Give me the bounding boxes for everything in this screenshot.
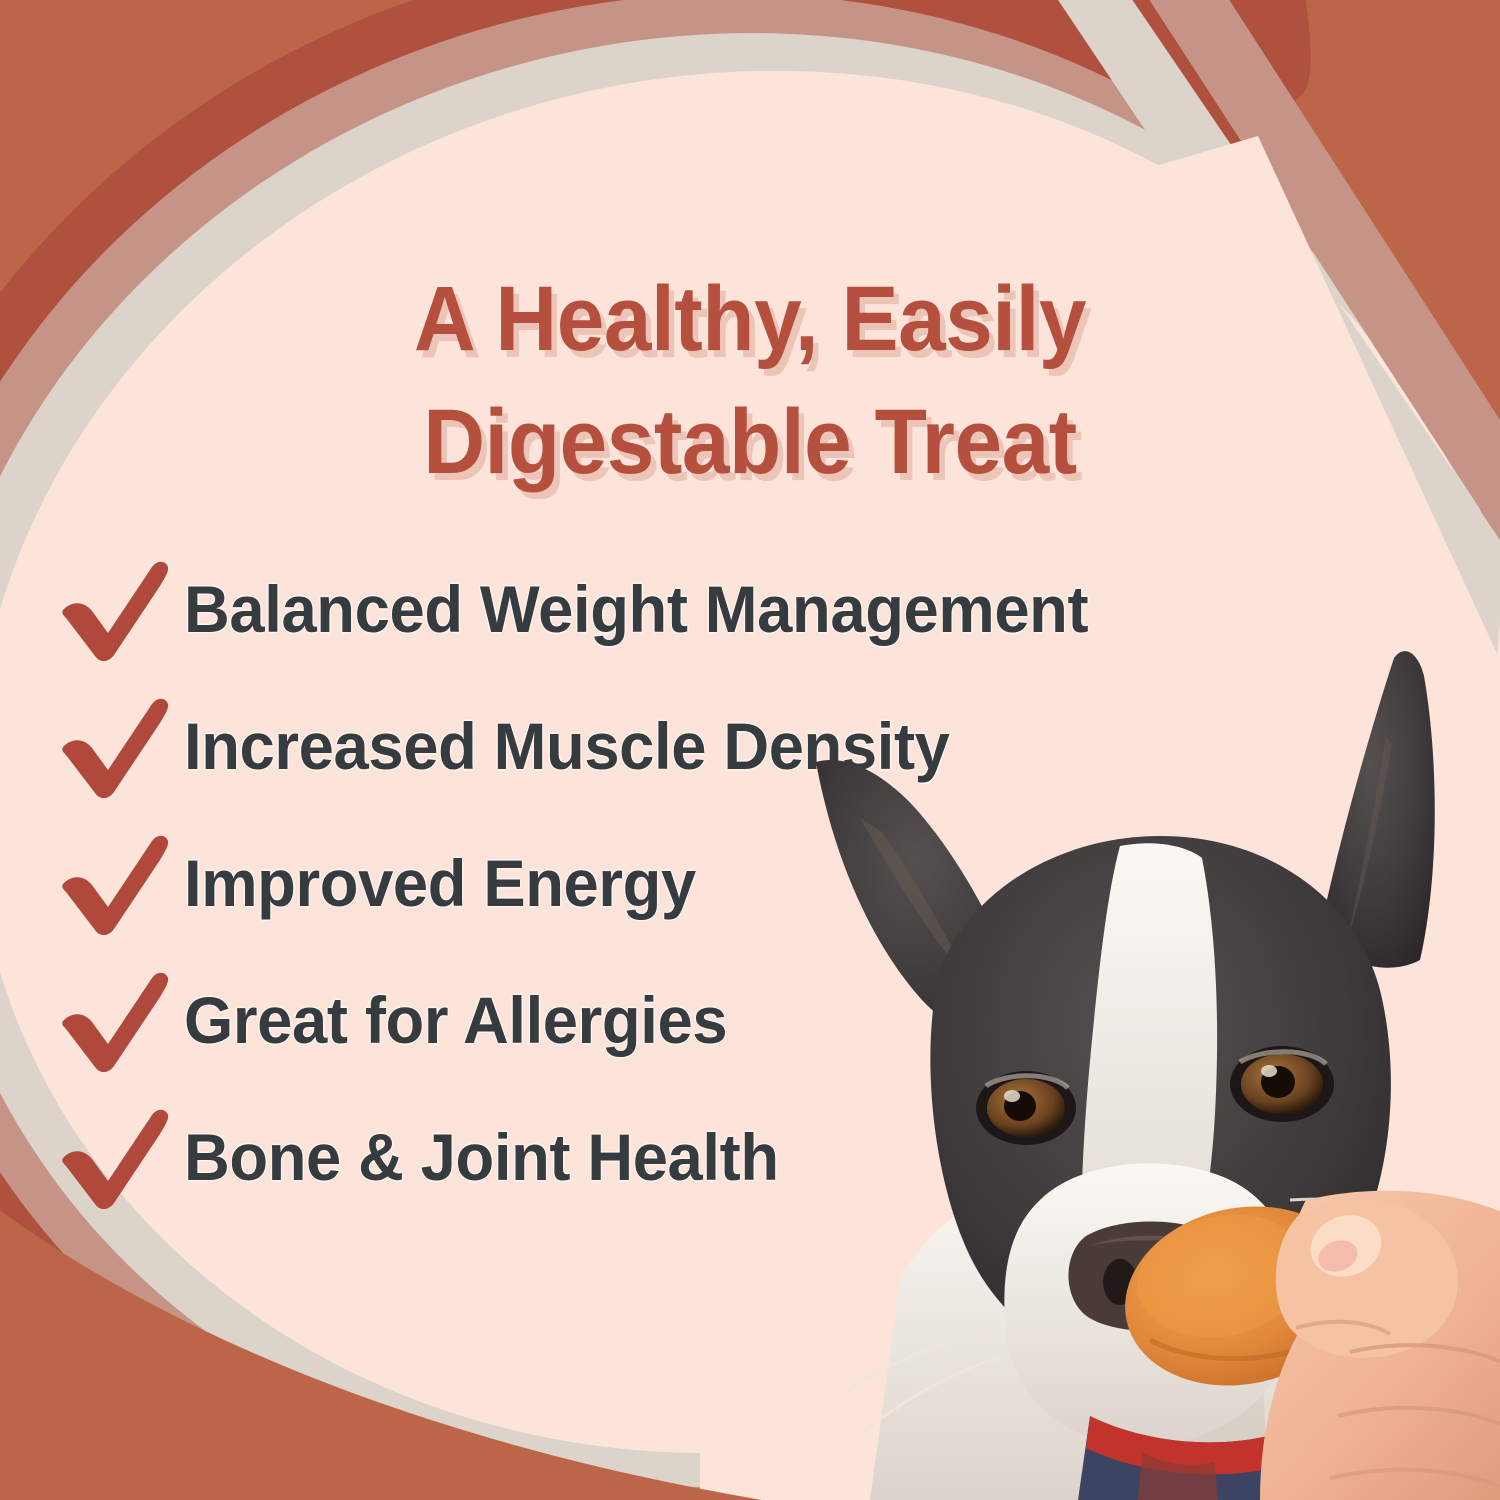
list-item-label: Great for Allergies	[184, 982, 727, 1058]
list-item-label: Bone & Joint Health	[184, 1119, 779, 1195]
dog-right-eye	[1230, 1046, 1334, 1122]
dog-eating-treat-photo	[790, 640, 1500, 1500]
check-icon	[56, 694, 174, 798]
list-item-label: Improved Energy	[184, 845, 696, 921]
poster-canvas: A Healthy, Easily Digestable Treat Balan…	[0, 0, 1500, 1500]
human-hand	[1260, 1191, 1500, 1500]
check-icon	[56, 557, 174, 661]
list-item-label: Balanced Weight Management	[184, 571, 1088, 647]
check-icon	[56, 968, 174, 1072]
dog-left-eye	[976, 1071, 1076, 1145]
check-icon	[56, 1105, 174, 1209]
page-title: A Healthy, Easily Digestable Treat	[53, 258, 1448, 505]
check-icon	[56, 831, 174, 935]
